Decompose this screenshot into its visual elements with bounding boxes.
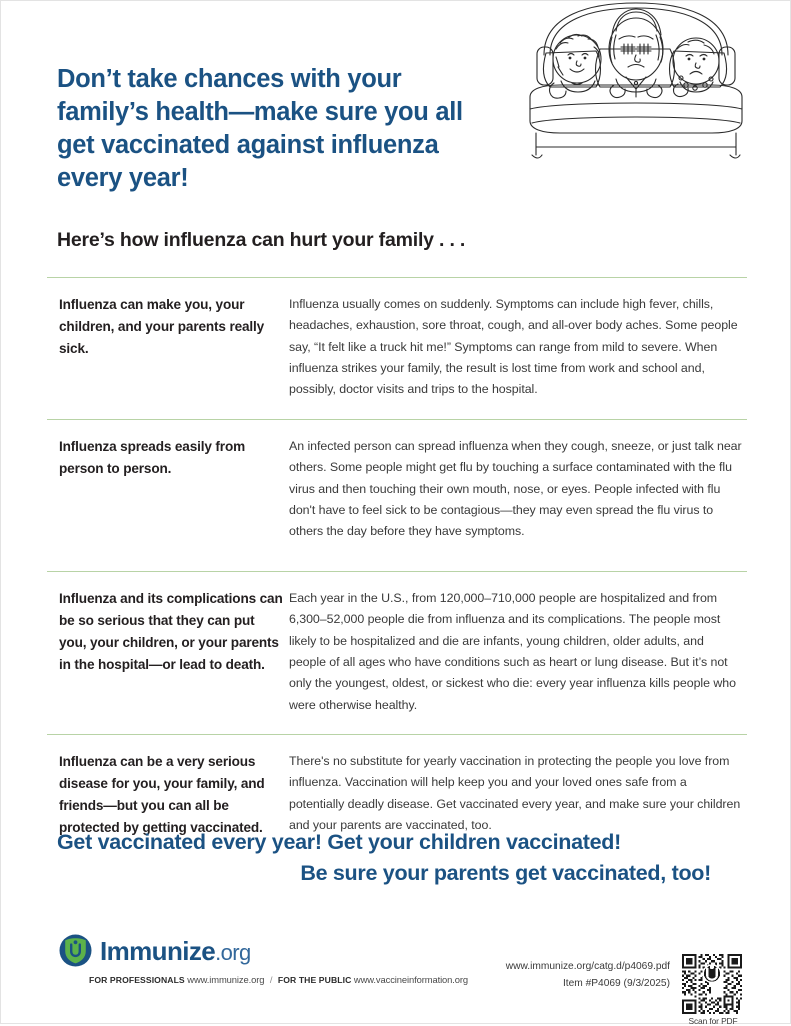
content-row: Influenza spreads easily from person to … xyxy=(47,420,747,571)
footer-links: FOR PROFESSIONALS www.immunize.org / FOR… xyxy=(89,974,468,985)
cta-line-1: Get vaccinated every year! Get your chil… xyxy=(57,827,747,858)
footer: Immunize.org FOR PROFESSIONALS www.immun… xyxy=(1,926,791,1025)
content-row: Influenza can make you, your children, a… xyxy=(47,278,747,419)
qr-code-icon[interactable] xyxy=(682,954,742,1014)
pdf-url[interactable]: www.immunize.org/catg.d/p4069.pdf xyxy=(506,959,670,976)
document-reference: www.immunize.org/catg.d/p4069.pdf Item #… xyxy=(506,959,670,993)
row-body: An infected person can spread influenza … xyxy=(285,436,747,543)
row-body: There's no substitute for yearly vaccina… xyxy=(285,751,747,836)
row-body: Influenza usually comes on suddenly. Sym… xyxy=(285,294,747,401)
content-row: Influenza and its complications can be s… xyxy=(47,572,747,734)
qr-code-block[interactable]: Scan for PDF xyxy=(682,954,744,1026)
row-title: Influenza and its complications can be s… xyxy=(47,588,285,676)
page-title: Don’t take chances with your family’s he… xyxy=(57,63,467,196)
poster-page: Don’t take chances with your family’s he… xyxy=(0,0,791,1024)
family-sick-in-bed-illustration xyxy=(520,0,752,165)
public-url[interactable]: www.vaccineinformation.org xyxy=(354,974,468,985)
content-rows: Influenza can make you, your children, a… xyxy=(47,277,747,872)
logo-wordmark: Immunize.org xyxy=(100,938,251,964)
call-to-action: Get vaccinated every year! Get your chil… xyxy=(57,827,747,888)
cta-line-2: Be sure your parents get vaccinated, too… xyxy=(57,858,747,889)
item-number: Item #P4069 (9/3/2025) xyxy=(506,976,670,993)
immunize-shield-icon xyxy=(59,934,92,967)
row-title: Influenza spreads easily from person to … xyxy=(47,436,285,480)
section-subheading: Here’s how influenza can hurt your famil… xyxy=(57,229,465,252)
professionals-url[interactable]: www.immunize.org xyxy=(187,974,264,985)
logo-suffix: .org xyxy=(215,940,251,965)
row-body: Each year in the U.S., from 120,000–710,… xyxy=(285,588,747,716)
logo-name: Immunize xyxy=(100,936,215,966)
for-professionals-label: FOR PROFESSIONALS xyxy=(89,975,185,985)
for-the-public-label: FOR THE PUBLIC xyxy=(278,975,352,985)
footer-separator: / xyxy=(267,974,276,985)
immunize-logo[interactable]: Immunize.org xyxy=(59,934,251,967)
qr-caption: Scan for PDF xyxy=(682,1016,744,1026)
row-title: Influenza can make you, your children, a… xyxy=(47,294,285,360)
row-title: Influenza can be a very serious disease … xyxy=(47,751,285,839)
